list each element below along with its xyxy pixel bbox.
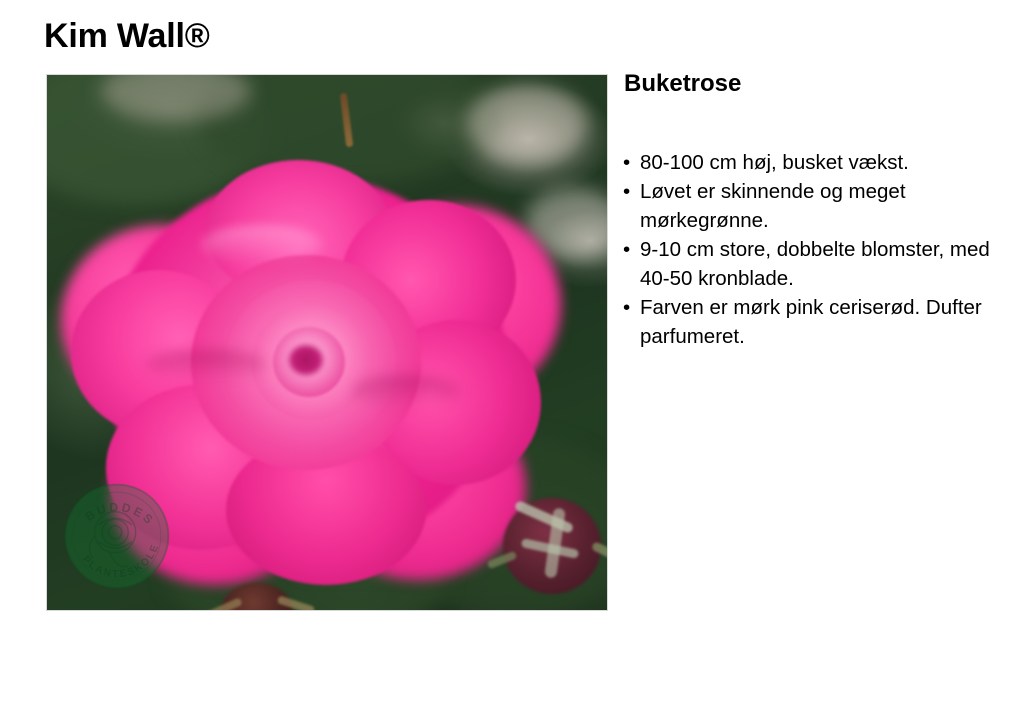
list-item: • Løvet er skinnende og meget mørkegrønn… [622, 177, 994, 235]
petal-shadow [351, 375, 461, 409]
sidebar-heading: Buketrose [624, 70, 741, 99]
petal-highlight [201, 225, 321, 265]
bullet-marker: • [623, 148, 630, 177]
list-item: • 80-100 cm høj, busket vækst. [622, 148, 994, 177]
bullet-marker: • [623, 177, 630, 206]
bullet-marker: • [623, 235, 630, 264]
petal-shadow [146, 350, 266, 380]
watermark-logo: BUDDES PLANTESKOLE [61, 480, 173, 592]
list-item-label: 80-100 cm høj, busket vækst. [640, 151, 909, 174]
list-item-label: Løvet er skinnende og meget mørkegrønne. [640, 180, 906, 232]
rose-center-shadow [289, 345, 323, 375]
page-title: Kim Wall® [44, 18, 210, 55]
rose-photo: BUDDES PLANTESKOLE [46, 74, 608, 611]
list-item-label: 9-10 cm store, dobbelte blomster, med 40… [640, 238, 990, 290]
list-item: • Farven er mørk pink ceriserød. Dufter … [622, 293, 994, 351]
bullet-marker: • [623, 293, 630, 322]
photo-background: BUDDES PLANTESKOLE [47, 75, 607, 610]
list-item: • 9-10 cm store, dobbelte blomster, med … [622, 235, 994, 293]
secondary-bud [207, 575, 317, 611]
rose-bud [495, 490, 608, 608]
list-item-label: Farven er mørk pink ceriserød. Dufter pa… [640, 296, 982, 348]
feature-bullet-list: • 80-100 cm høj, busket vækst. • Løvet e… [622, 148, 994, 351]
